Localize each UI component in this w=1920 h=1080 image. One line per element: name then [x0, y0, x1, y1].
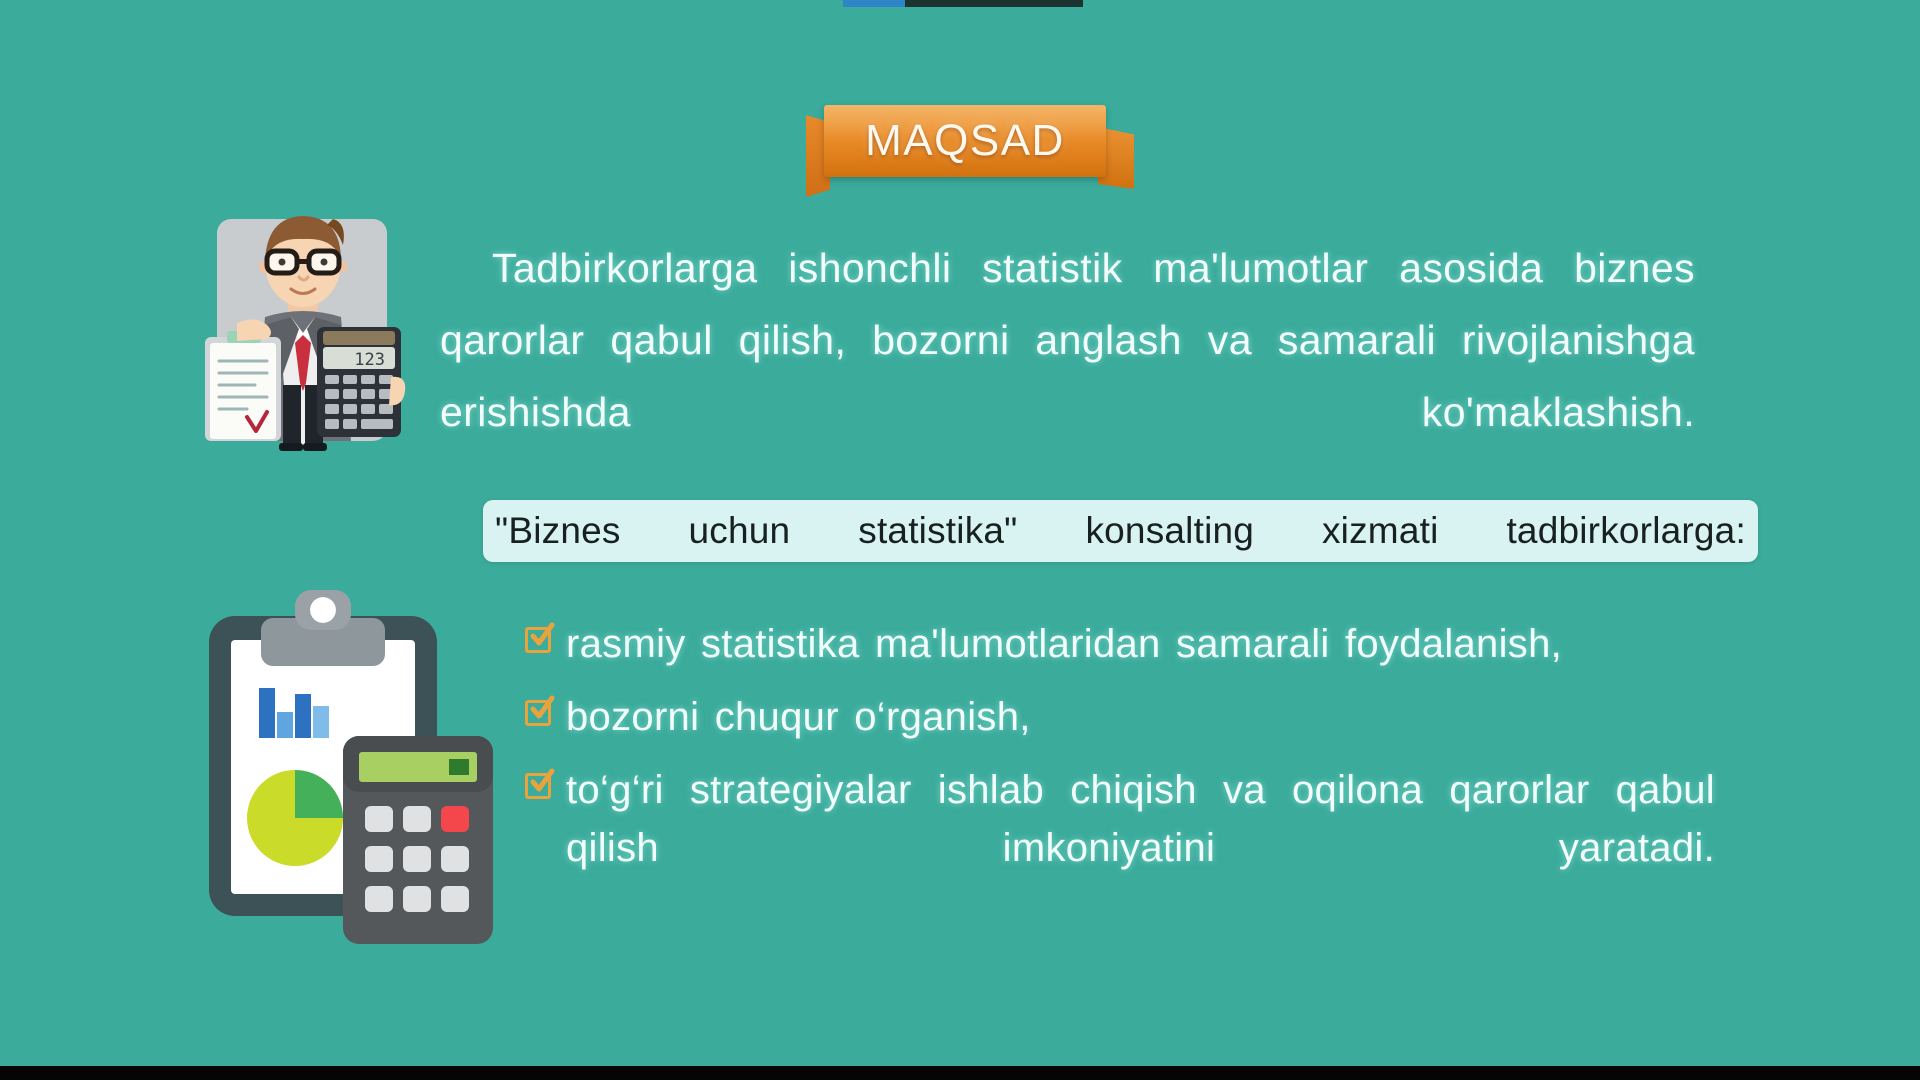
checkmark-icon [529, 695, 555, 721]
headline-word: "Biznes [495, 510, 621, 552]
checkmark-icon [529, 622, 555, 648]
headline-word: uchun [689, 510, 791, 552]
video-progress-fill [843, 0, 905, 7]
svg-text:123: 123 [354, 350, 385, 370]
letterbox-bottom [0, 1066, 1920, 1080]
maqsad-ribbon-banner: MAQSAD [806, 105, 1126, 177]
slide-canvas: MAQSAD [0, 0, 1920, 1080]
businessman-icon: 123 [195, 205, 410, 455]
headline-word: xizmati [1322, 510, 1439, 552]
businessman-illustration: 123 [195, 205, 410, 455]
benefits-checklist: rasmiy statistika ma'lumotlaridan samara… [525, 615, 1715, 950]
clipboard-charts-calculator-icon [195, 578, 495, 953]
headline-word: statistika" [858, 510, 1017, 552]
list-item-label: rasmiy statistika ma'lumotlaridan samara… [566, 615, 1715, 673]
video-progress-bar[interactable] [843, 0, 1083, 7]
checkbox-checked-icon [525, 700, 551, 726]
list-item: bozorni chuqur o‘rganish, [525, 688, 1715, 746]
checkmark-icon [529, 768, 555, 794]
list-item-label: to‘g‘ri strategiyalar ishlab chiqish va … [566, 761, 1715, 935]
checkbox-checked-icon [525, 773, 551, 799]
stats-illustration [195, 578, 495, 953]
ribbon-title: MAQSAD [865, 116, 1065, 166]
ribbon-body: MAQSAD [824, 105, 1106, 177]
checkbox-checked-icon [525, 627, 551, 653]
headline-text: "Biznes uchun statistika" konsalting xiz… [483, 510, 1758, 552]
list-item-label: bozorni chuqur o‘rganish, [566, 688, 1715, 746]
list-item: rasmiy statistika ma'lumotlaridan samara… [525, 615, 1715, 673]
headline-word: tadbirkorlarga: [1506, 510, 1746, 552]
list-item: to‘g‘ri strategiyalar ishlab chiqish va … [525, 761, 1715, 935]
headline-word: konsalting [1085, 510, 1254, 552]
headline-highlight-bar: "Biznes uchun statistika" konsalting xiz… [483, 500, 1758, 562]
intro-paragraph: Tadbirkorlarga ishonchli statistik ma'lu… [440, 232, 1695, 520]
